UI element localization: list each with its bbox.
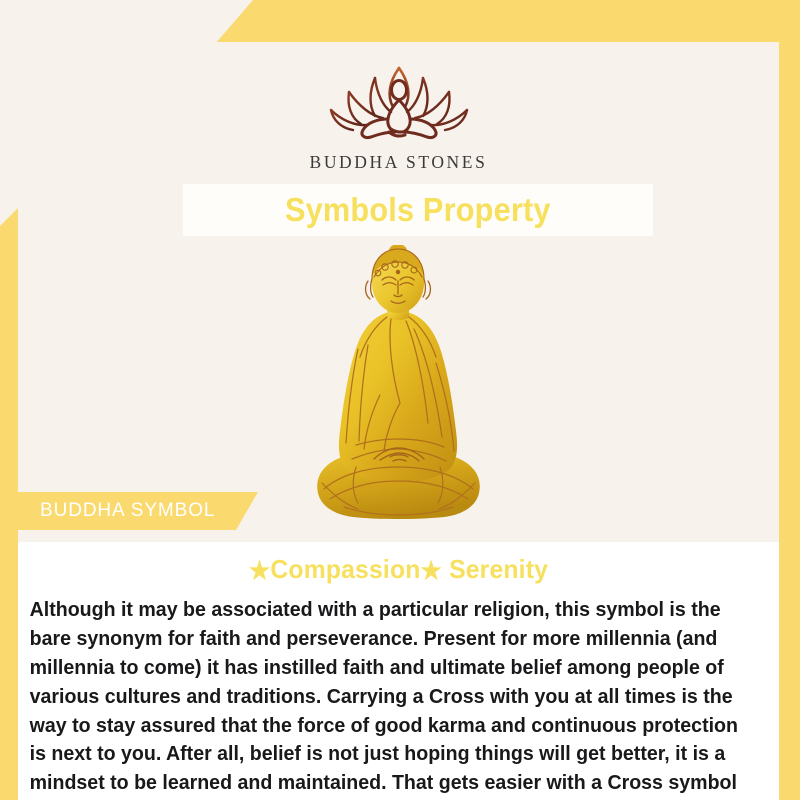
description-text: Although it may be associated with a par… [18, 596, 756, 800]
hero-image [18, 245, 779, 535]
section-tag-label: BUDDHA SYMBOL [40, 500, 215, 522]
subtitle-word-two: Serenity [442, 554, 548, 584]
section-subtitle: ★Compassion★ Serenity [37, 554, 760, 586]
description-panel: ★Compassion★ Serenity Although it may be… [18, 542, 779, 800]
brand-name: BUDDHA STONES [310, 152, 488, 173]
title-banner: Symbols Property [183, 184, 653, 236]
decorative-top-band [215, 0, 800, 44]
content-card: BUDDHA STONES Symbols Property [18, 42, 779, 782]
seated-buddha-statue-icon [296, 245, 501, 535]
star-icon-left: ★ [249, 557, 270, 585]
section-tag: BUDDHA SYMBOL [18, 492, 258, 530]
brand-logo: BUDDHA STONES [18, 62, 779, 173]
decorative-right-band [779, 0, 800, 800]
subtitle-word-one: Compassion [270, 554, 420, 584]
infographic-page: BUDDHA STONES Symbols Property [0, 0, 800, 800]
star-icon-right: ★ [421, 557, 442, 585]
lotus-meditation-icon [319, 62, 479, 148]
page-title: Symbols Property [285, 191, 551, 229]
